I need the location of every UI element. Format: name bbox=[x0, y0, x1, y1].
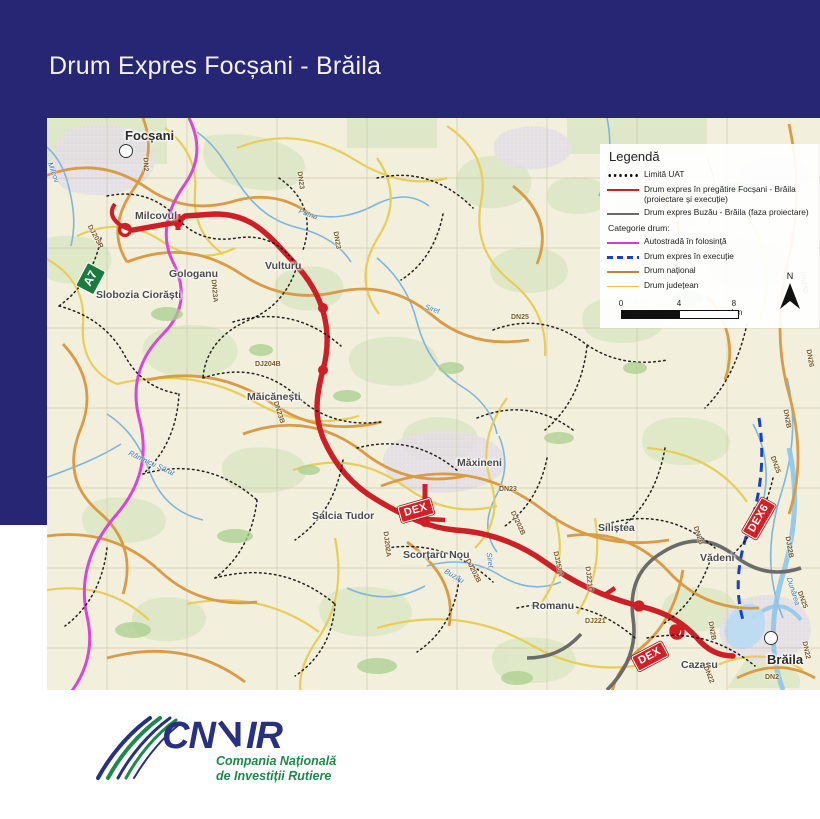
map-legend: Legendă Limită UAT Drum expres în pregăt… bbox=[600, 144, 819, 328]
town-label: Siliștea bbox=[598, 522, 635, 534]
cnir-tagline-line2: de Investiții Rutiere bbox=[216, 769, 336, 784]
legend-item-label: Drum expres Buzău - Brăila (faza proiect… bbox=[644, 207, 809, 218]
road-number-label: DJ204B bbox=[255, 361, 281, 368]
road-number-label: DN25 bbox=[511, 314, 529, 321]
legend-item-focsani-braila: Drum expres în pregătire Focșani - Brăil… bbox=[607, 184, 812, 205]
yellow-line-icon bbox=[607, 281, 639, 292]
city-label: Focșani bbox=[125, 128, 174, 143]
legend-item-label: Drum județean bbox=[644, 280, 698, 291]
city-label: Brăila bbox=[767, 652, 803, 667]
north-arrow: N bbox=[773, 272, 807, 316]
legend-item-limita-uat: Limită UAT bbox=[607, 169, 812, 181]
legend-item-autostrada: Autostradă în folosință bbox=[607, 236, 812, 248]
town-label: Gologanu bbox=[169, 268, 218, 280]
legend-item-buzau-braila: Drum expres Buzău - Brăila (faza proiect… bbox=[607, 207, 812, 219]
legend-item-label: Autostradă în folosință bbox=[644, 236, 727, 247]
legend-item-drum-expres-executie: Drum expres în execuție bbox=[607, 251, 812, 263]
map-canvas[interactable]: FocșaniBrăila MilcovulGologanuVulturuSlo… bbox=[47, 118, 820, 690]
legend-category-heading: Categorie drum: bbox=[608, 223, 812, 233]
town-label: Salcia Tudor bbox=[312, 510, 374, 522]
svg-text:CN: CN bbox=[162, 715, 217, 757]
dotted-line-icon bbox=[607, 170, 639, 181]
legend-item-label: Limită UAT bbox=[644, 169, 684, 180]
legend-item-label: Drum expres în pregătire Focșani - Brăil… bbox=[644, 184, 796, 205]
page-title: Drum Expres Focșani - Brăila bbox=[49, 52, 649, 81]
red-line-icon bbox=[607, 185, 639, 196]
legend-item-label: Drum expres în execuție bbox=[644, 251, 734, 262]
river-label: Siret bbox=[485, 552, 496, 569]
cnir-tagline-line1: Compania Națională bbox=[216, 754, 336, 769]
town-label: Scorțaru Nou bbox=[403, 549, 470, 561]
legend-item-label: Drum național bbox=[644, 265, 696, 276]
road-number-label: DN2 bbox=[765, 674, 779, 681]
scale-bar-graphic bbox=[621, 310, 739, 319]
scale-tick-labels: 0 4 8 km bbox=[621, 299, 737, 309]
scale-tick-1: 4 bbox=[677, 299, 681, 308]
town-label: Cazasu bbox=[681, 659, 718, 671]
north-arrow-label: N bbox=[773, 272, 807, 281]
cnir-logo-tagline: Compania Națională de Investiții Rutiere bbox=[216, 754, 336, 783]
road-number-label: DJ221 bbox=[585, 618, 606, 625]
city-marker-dot bbox=[764, 631, 778, 645]
orange-line-icon bbox=[607, 266, 639, 277]
map-scale-bar: 0 4 8 km bbox=[621, 299, 737, 321]
town-label: Milcovul bbox=[135, 210, 177, 222]
cnir-logo: CN IR Compania Națională de Investiții R… bbox=[88, 712, 388, 782]
town-label: Vulturu bbox=[265, 260, 301, 272]
town-label: Măxineni bbox=[457, 457, 502, 469]
svg-text:IR: IR bbox=[246, 715, 284, 757]
town-label: Slobozia Ciorăști bbox=[96, 289, 181, 301]
scale-tick-0: 0 bbox=[619, 299, 623, 308]
town-label: Romanu bbox=[532, 600, 574, 612]
blue-dashed-line-icon bbox=[607, 252, 639, 263]
magenta-line-icon bbox=[607, 237, 639, 248]
gray-line-icon bbox=[607, 208, 639, 219]
slide-root: Drum Expres Focșani - Brăila bbox=[0, 0, 820, 819]
city-marker-dot bbox=[119, 144, 133, 158]
road-number-label: DN2 bbox=[142, 157, 149, 171]
legend-item-label-line2: (proiectare și execuție) bbox=[644, 194, 728, 204]
sidebar-navy-band bbox=[0, 118, 47, 525]
legend-heading: Legendă bbox=[609, 149, 812, 164]
road-number-label: DN23 bbox=[499, 486, 517, 493]
legend-item-label-line1: Drum expres în pregătire Focșani - Brăil… bbox=[644, 184, 796, 194]
north-arrow-icon bbox=[775, 281, 805, 311]
town-label: Vădeni bbox=[700, 552, 734, 564]
